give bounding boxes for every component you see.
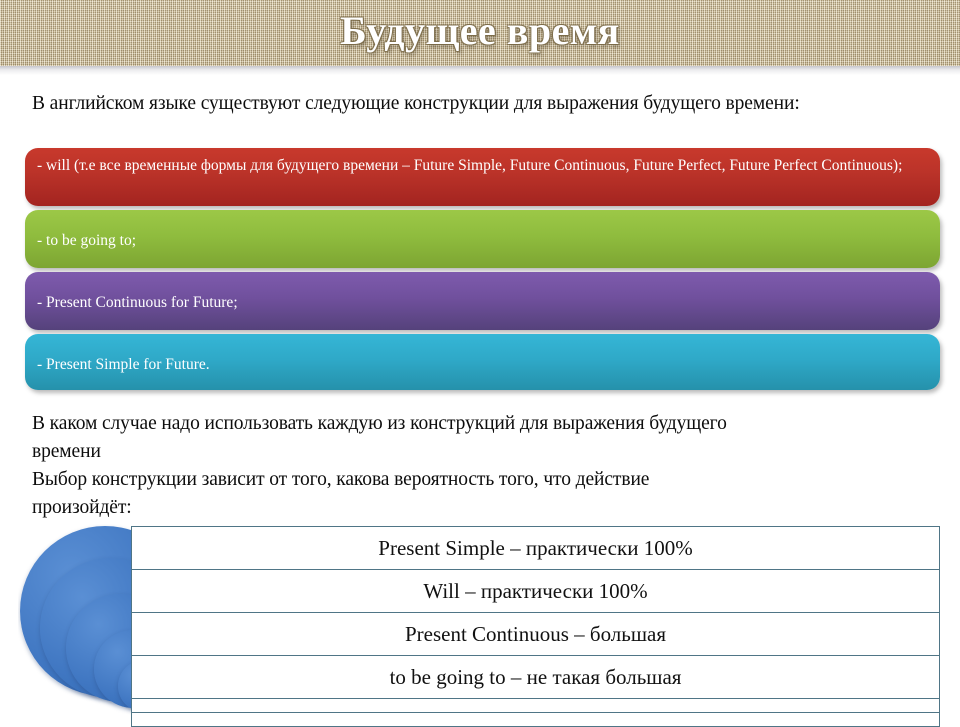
banner-shadow bbox=[0, 66, 960, 75]
table-cell-probability: Will – практически 100% bbox=[132, 570, 940, 613]
construction-bar-present-continuous[interactable]: - Present Continuous for Future; bbox=[25, 272, 940, 330]
table-row: Will – практически 100% bbox=[132, 570, 940, 613]
table-cell-empty bbox=[132, 699, 940, 713]
table-cell-probability: to be going to – не такая большая bbox=[132, 656, 940, 699]
question-line-2: времени bbox=[32, 438, 932, 466]
construction-bar-will-label: - will (т.е все временные формы для буду… bbox=[37, 157, 902, 174]
construction-bar-will[interactable]: - will (т.е все временные формы для буду… bbox=[25, 148, 940, 206]
construction-bar-present-simple-label: - Present Simple for Future. bbox=[37, 356, 210, 373]
table-row: Present Continuous – большая bbox=[132, 613, 940, 656]
table-row bbox=[132, 699, 940, 713]
construction-bar-present-simple[interactable]: - Present Simple for Future. bbox=[25, 334, 940, 390]
title-banner: Будущее время bbox=[0, 0, 960, 66]
table-cell-probability: Present Continuous – большая bbox=[132, 613, 940, 656]
table-row: to be going to – не такая большая bbox=[132, 656, 940, 699]
probability-table: Present Simple – практически 100% Will –… bbox=[131, 526, 940, 727]
construction-bar-to-be-going-to-label: - to be going to; bbox=[37, 232, 136, 249]
question-line-3: Выбор конструкции зависит от того, каков… bbox=[32, 466, 932, 494]
question-line-4: произойдёт: bbox=[32, 494, 932, 522]
construction-bar-present-continuous-label: - Present Continuous for Future; bbox=[37, 294, 238, 311]
construction-bar-to-be-going-to[interactable]: - to be going to; bbox=[25, 210, 940, 268]
intro-paragraph: В английском языке существуют следующие … bbox=[32, 90, 912, 118]
question-line-1: В каком случае надо использовать каждую … bbox=[32, 410, 932, 438]
question-paragraph: В каком случае надо использовать каждую … bbox=[32, 410, 932, 522]
table-cell-probability: Present Simple – практически 100% bbox=[132, 527, 940, 570]
page-title: Будущее время bbox=[0, 0, 960, 62]
table-row: Present Simple – практически 100% bbox=[132, 527, 940, 570]
